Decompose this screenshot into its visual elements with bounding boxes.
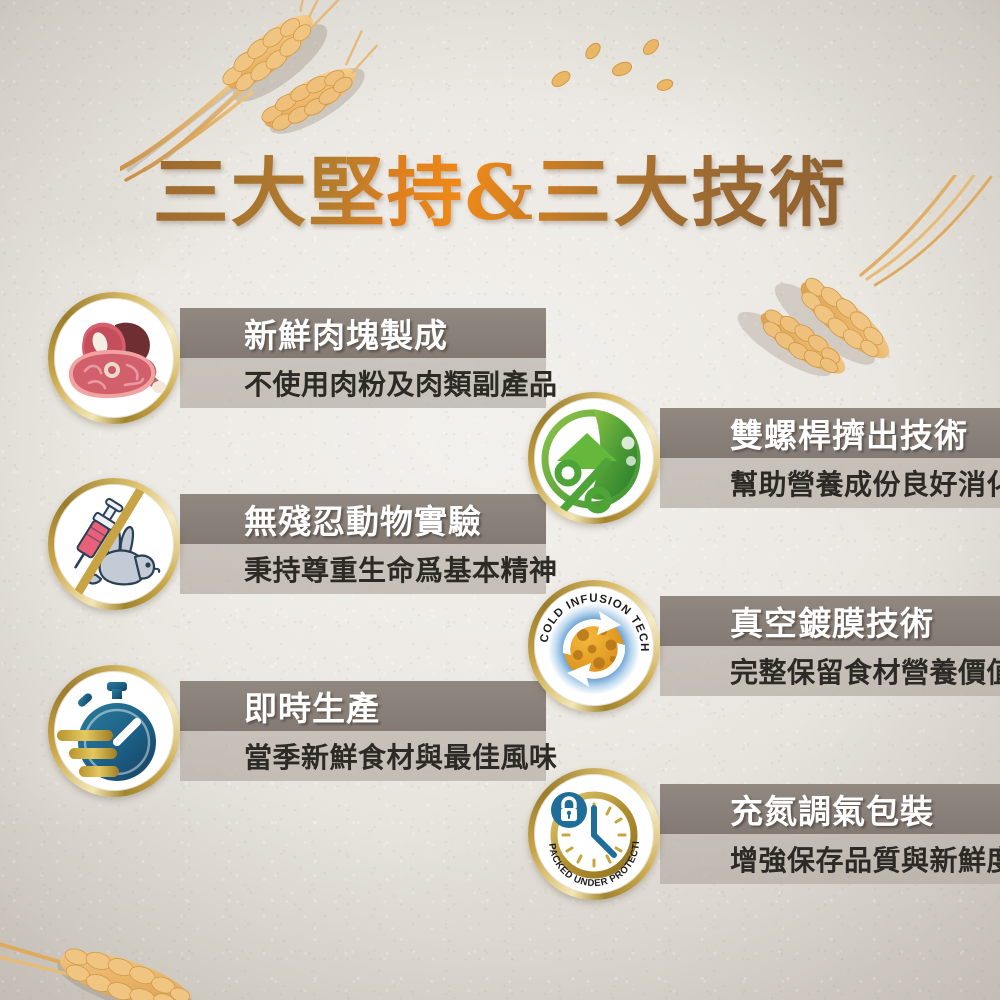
feature-subtitle-bar: 幫助營養成份良好消化&吸收 <box>660 458 1000 508</box>
feature-no-animal-testing[interactable]: 無殘忍動物實驗 秉持尊重生命爲基本精神 <box>48 478 546 610</box>
badge-ring <box>528 392 660 524</box>
feature-nitrogen-packaging[interactable]: PACKED UNDER PROTECTIVE ATMOSPHERE 充氮調氣包… <box>528 768 1000 900</box>
feature-title-bar: 充氮調氣包裝 <box>660 784 1000 834</box>
badge-ring: PACKED UNDER PROTECTIVE ATMOSPHERE <box>528 768 660 900</box>
feature-subtitle: 秉持尊重生命爲基本精神 <box>244 549 558 589</box>
feature-subtitle-bar: 增強保存品質與新鮮度 <box>660 834 1000 884</box>
feature-subtitle-bar: 秉持尊重生命爲基本精神 <box>180 544 546 594</box>
badge-ring <box>48 478 180 610</box>
page-title: 三大堅持&三大技術 <box>153 155 848 231</box>
feature-subtitle: 當季新鮮食材與最佳風味 <box>244 736 558 776</box>
badge-ring: COLD INFUSION TECHNOLOGY <box>528 580 660 712</box>
green-percent-leaf-icon <box>534 398 654 518</box>
page-title-wrap: 三大堅持&三大技術 <box>0 104 1000 282</box>
feature-subtitle: 幫助營養成份良好消化&吸收 <box>730 463 1000 503</box>
feature-title-bar: 無殘忍動物實驗 <box>180 494 546 544</box>
feature-title: 真空鍍膜技術 <box>730 597 934 645</box>
feature-subtitle: 不使用肉粉及肉類副產品 <box>244 363 558 403</box>
feature-subtitle: 完整保留食材營養價值 <box>730 651 1000 691</box>
feature-title: 新鮮肉塊製成 <box>244 309 448 357</box>
feature-bars: 雙螺桿擠出技術 幫助營養成份良好消化&吸收 <box>636 408 1000 508</box>
feature-title: 充氮調氣包裝 <box>730 785 934 833</box>
feature-subtitle-bar: 完整保留食材營養價值 <box>660 646 1000 696</box>
feature-subtitle: 增強保存品質與新鮮度 <box>730 839 1000 879</box>
feature-bars: 無殘忍動物實驗 秉持尊重生命爲基本精神 <box>156 494 546 594</box>
feature-fresh-meat[interactable]: 新鮮肉塊製成 不使用肉粉及肉類副產品 <box>48 292 546 424</box>
poster-canvas: 三大堅持&三大技術 <box>0 0 1000 1000</box>
feature-subtitle-bar: 當季新鮮食材與最佳風味 <box>180 731 546 781</box>
feature-bars: 新鮮肉塊製成 不使用肉粉及肉類副產品 <box>156 308 546 408</box>
feature-title-bar: 真空鍍膜技術 <box>660 596 1000 646</box>
fresh-meat-icon <box>54 298 174 418</box>
feature-just-in-time-production[interactable]: 即時生產 當季新鮮食材與最佳風味 <box>48 665 546 797</box>
no-animal-testing-icon <box>54 484 174 604</box>
feature-title: 雙螺桿擠出技術 <box>730 409 968 457</box>
feature-title: 即時生產 <box>244 682 380 730</box>
feature-vacuum-coating[interactable]: COLD INFUSION TECHNOLOGY 真空鍍膜技術 完整保留食材營養… <box>528 580 1000 712</box>
badge-ring <box>48 292 180 424</box>
cold-infusion-badge-icon: COLD INFUSION TECHNOLOGY <box>534 586 654 706</box>
stopwatch-icon <box>54 671 174 791</box>
feature-title-bar: 雙螺桿擠出技術 <box>660 408 1000 458</box>
feature-bars: 充氮調氣包裝 增強保存品質與新鮮度 <box>636 784 1000 884</box>
feature-title-bar: 即時生產 <box>180 681 546 731</box>
feature-subtitle-bar: 不使用肉粉及肉類副產品 <box>180 358 546 408</box>
feature-twin-screw-extrusion[interactable]: 雙螺桿擠出技術 幫助營養成份良好消化&吸收 <box>528 392 1000 524</box>
badge-ring <box>48 665 180 797</box>
feature-bars: 真空鍍膜技術 完整保留食材營養價值 <box>636 596 1000 696</box>
feature-title-bar: 新鮮肉塊製成 <box>180 308 546 358</box>
feature-bars: 即時生產 當季新鮮食材與最佳風味 <box>156 681 546 781</box>
feature-title: 無殘忍動物實驗 <box>244 495 482 543</box>
protective-atmosphere-badge-icon: PACKED UNDER PROTECTIVE ATMOSPHERE <box>534 774 654 894</box>
